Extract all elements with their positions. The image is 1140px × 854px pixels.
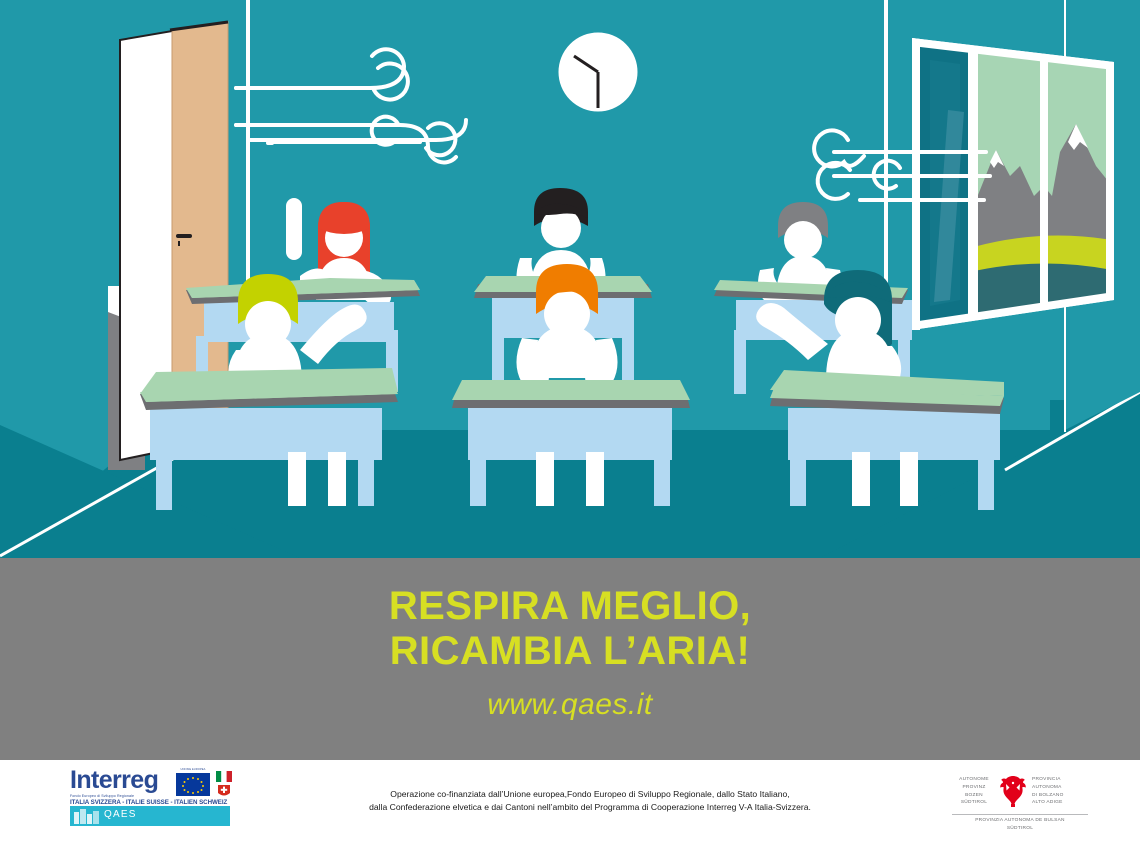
province-logo: AUTONOME PROVINZ BOZEN SÜDTIROL PROVINCI… [952,774,1088,812]
province-german-text: AUTONOME PROVINZ BOZEN SÜDTIROL [952,776,996,807]
window-frame-mid [968,50,978,318]
window-mullion [1040,60,1048,305]
qaes-label: QAES [104,809,137,820]
qaes-logo: QAES [70,806,230,826]
province-it-line-1: PROVINCIA [1032,776,1088,784]
website-url[interactable]: www.qaes.it [0,688,1140,722]
slogan-heading: RESPIRA MEGLIO, RICAMBIA L’ARIA! [0,584,1140,674]
footer: Interreg Fondo Europeo di Sviluppo Regio… [0,760,1140,854]
eu-flag-caption: UNIONE EUROPEA [176,768,210,771]
province-divider [952,814,1088,815]
province-it-line-3: DI BOLZANO [1032,792,1088,800]
classroom-scene-svg [0,0,1140,558]
window-frame-left [912,38,920,330]
classroom-illustration [0,0,1140,558]
eagle-tail [1011,804,1015,807]
pupil-leg-left [852,452,870,506]
province-de-line-4: SÜDTIROL [952,799,996,807]
province-italian-text: PROVINCIA AUTONOMA DI BOLZANO ALTO ADIGE [1032,776,1088,807]
province-lld-line-2: SÜDTIROL [952,825,1088,833]
desk-front-panel [788,408,1000,460]
pupil-leg-left [536,452,554,506]
pupil-leg-right [328,452,346,506]
slogan-line-1: RESPIRA MEGLIO, [0,584,1140,629]
italy-switzerland-flags-icon [216,771,232,797]
wall-clock [558,32,638,112]
eagle-eye [1012,782,1014,784]
desk-top-plate [140,368,398,394]
desk-top [452,380,690,400]
pupil-leg-left [288,452,306,506]
eu-stars-icon [176,773,210,796]
province-it-line-2: AUTONOMA [1032,784,1088,792]
province-de-line-2: PROVINZ [952,784,996,792]
funding-note-line-1: Operazione co-finanziata dall’Unione eur… [300,788,880,801]
province-de-line-3: BOZEN [952,792,996,800]
slogan-band: RESPIRA MEGLIO, RICAMBIA L’ARIA! www.qae… [0,558,1140,760]
tyrol-eagle-icon [998,774,1028,808]
province-it-line-4: ALTO ADIGE [1032,799,1088,807]
province-ladin-text: PROVINZIA AUTONOMA DE BULSAN SÜDTIROL [952,817,1088,832]
building-icon [74,809,100,824]
pupil-leg-right [586,452,604,506]
pupil-leg-right [900,452,918,506]
door-handle-icon[interactable] [176,234,192,238]
pupil-head [784,221,822,259]
eu-flag-icon [176,773,210,796]
window-frame-right [1106,66,1114,297]
desk-front-panel [468,408,672,460]
door-keyhole-icon [178,241,180,246]
eagle-body [1000,776,1026,806]
province-de-line-1: AUTONOME [952,776,996,784]
province-lld-line-1: PROVINZIA AUTONOMA DE BULSAN [952,817,1088,825]
pupil-raised-arm [286,198,302,260]
funding-note: Operazione co-finanziata dall’Unione eur… [300,788,880,815]
classroom-window[interactable] [912,38,1115,330]
interreg-subtitle-bold: ITALIA SVIZZERA - ITALIE SUISSE - ITALIE… [70,799,230,806]
poster-canvas: RESPIRA MEGLIO, RICAMBIA L’ARIA! www.qae… [0,0,1140,854]
funding-note-line-2: dalla Confederazione elvetica e dai Cant… [300,801,880,814]
slogan-line-2: RICAMBIA L’ARIA! [0,629,1140,674]
desk-front-panel [150,408,382,460]
